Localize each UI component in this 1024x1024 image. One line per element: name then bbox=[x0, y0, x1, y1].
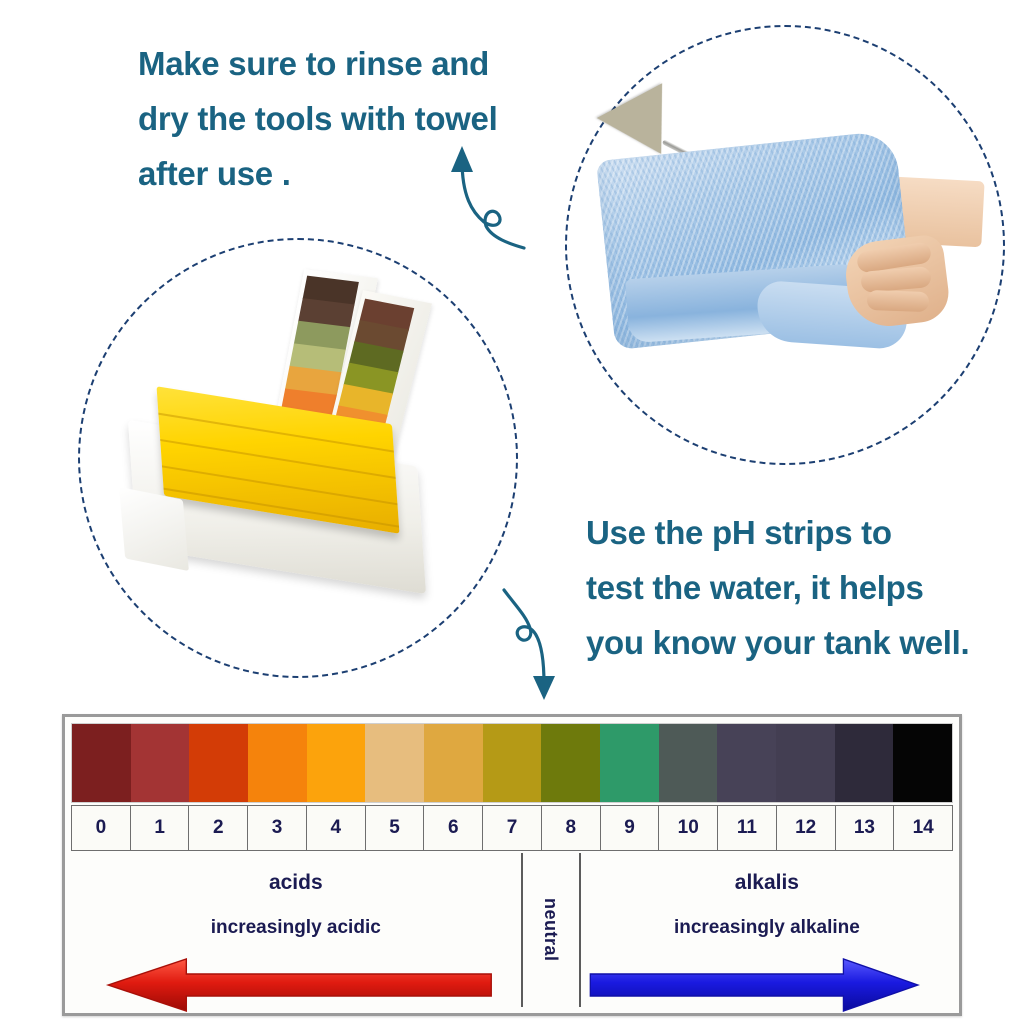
increasingly-acidic-label: increasingly acidic bbox=[71, 917, 521, 939]
acid-arrow-left-icon bbox=[71, 957, 521, 1013]
ph-number-cell: 4 bbox=[307, 806, 366, 850]
ph-region-neutral: neutral bbox=[523, 853, 581, 1007]
ph-number-cell: 13 bbox=[836, 806, 895, 850]
increasingly-alkaline-label: increasingly alkaline bbox=[581, 917, 953, 939]
curved-arrow-down-icon bbox=[492, 588, 602, 709]
alkali-arrow-right-icon bbox=[581, 957, 953, 1013]
ph-color-swatch bbox=[307, 724, 366, 802]
ph-color-swatch-row bbox=[71, 723, 953, 803]
ph-strips-photo bbox=[88, 248, 508, 668]
ph-scale-chart: 01234567891011121314 acids increasingly … bbox=[62, 714, 962, 1016]
ph-color-swatch bbox=[600, 724, 659, 802]
ph-region-acids: acids increasingly acidic bbox=[71, 853, 523, 1007]
ph-number-cell: 9 bbox=[601, 806, 660, 850]
alkalis-label: alkalis bbox=[581, 871, 953, 895]
ph-color-swatch bbox=[717, 724, 776, 802]
ph-number-cell: 5 bbox=[366, 806, 425, 850]
ph-number-cell: 3 bbox=[248, 806, 307, 850]
ph-number-cell: 6 bbox=[424, 806, 483, 850]
ph-region-row: acids increasingly acidic bbox=[71, 853, 953, 1007]
ph-color-swatch bbox=[365, 724, 424, 802]
ph-color-swatch bbox=[776, 724, 835, 802]
instruction-text-use-ph-strips: Use the pH strips to test the water, it … bbox=[586, 505, 1016, 670]
ph-color-swatch bbox=[189, 724, 248, 802]
ph-color-swatch bbox=[659, 724, 718, 802]
finger-shape bbox=[867, 290, 930, 312]
ph-color-swatch bbox=[72, 724, 131, 802]
ph-color-swatch bbox=[893, 724, 952, 802]
ph-number-cell: 10 bbox=[659, 806, 718, 850]
ph-color-swatch bbox=[835, 724, 894, 802]
ph-number-cell: 11 bbox=[718, 806, 777, 850]
ph-number-cell: 0 bbox=[72, 806, 131, 850]
ph-color-swatch bbox=[483, 724, 542, 802]
ph-number-cell: 14 bbox=[894, 806, 952, 850]
ph-number-cell: 1 bbox=[131, 806, 190, 850]
ph-number-cell: 2 bbox=[189, 806, 248, 850]
curved-arrow-up-icon bbox=[438, 138, 548, 255]
poster-canvas: Make sure to rinse and dry the tools wit… bbox=[0, 0, 1024, 1024]
towel-photo bbox=[575, 35, 995, 455]
booklet-spine-shape bbox=[119, 487, 189, 571]
ph-number-row: 01234567891011121314 bbox=[71, 805, 953, 851]
ph-number-cell: 8 bbox=[542, 806, 601, 850]
strip-stack-line bbox=[158, 413, 394, 453]
neutral-label: neutral bbox=[540, 898, 561, 962]
ph-color-swatch bbox=[131, 724, 190, 802]
ph-region-alkalis: alkalis increasingly alkaline bbox=[581, 853, 953, 1007]
ph-number-cell: 7 bbox=[483, 806, 542, 850]
ph-number-cell: 12 bbox=[777, 806, 836, 850]
ph-color-swatch bbox=[541, 724, 600, 802]
ph-color-swatch bbox=[424, 724, 483, 802]
acids-label: acids bbox=[71, 871, 521, 895]
ph-color-swatch bbox=[248, 724, 307, 802]
